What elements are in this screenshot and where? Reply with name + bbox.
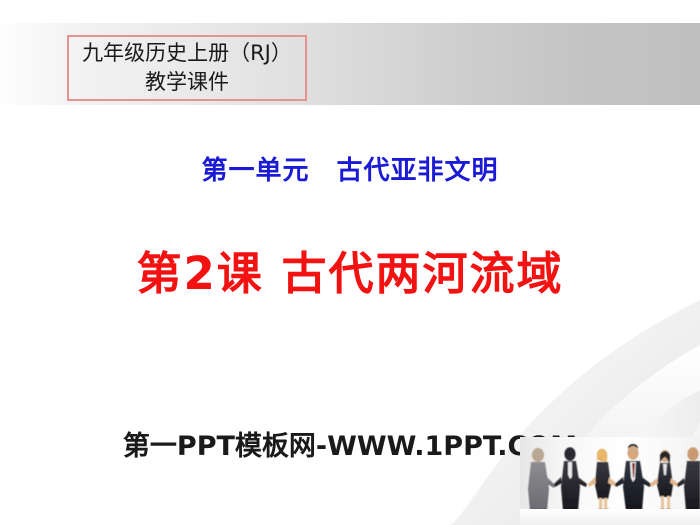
- unit-heading: 第一单元 古代亚非文明: [0, 150, 700, 187]
- presentation-slide: 九年级历史上册（RJ） 教学课件 第一单元 古代亚非文明 第2课 古代两河流域 …: [0, 0, 700, 525]
- businesspeople-photo: [520, 437, 700, 525]
- photo-floor-shadow: [520, 509, 700, 525]
- course-label-line-1: 九年级历史上册（RJ）: [82, 39, 292, 68]
- course-label-line-2: 教学课件: [145, 68, 229, 97]
- course-label-box: 九年级历史上册（RJ） 教学课件: [67, 35, 307, 101]
- lesson-title: 第2课 古代两河流域: [0, 237, 700, 302]
